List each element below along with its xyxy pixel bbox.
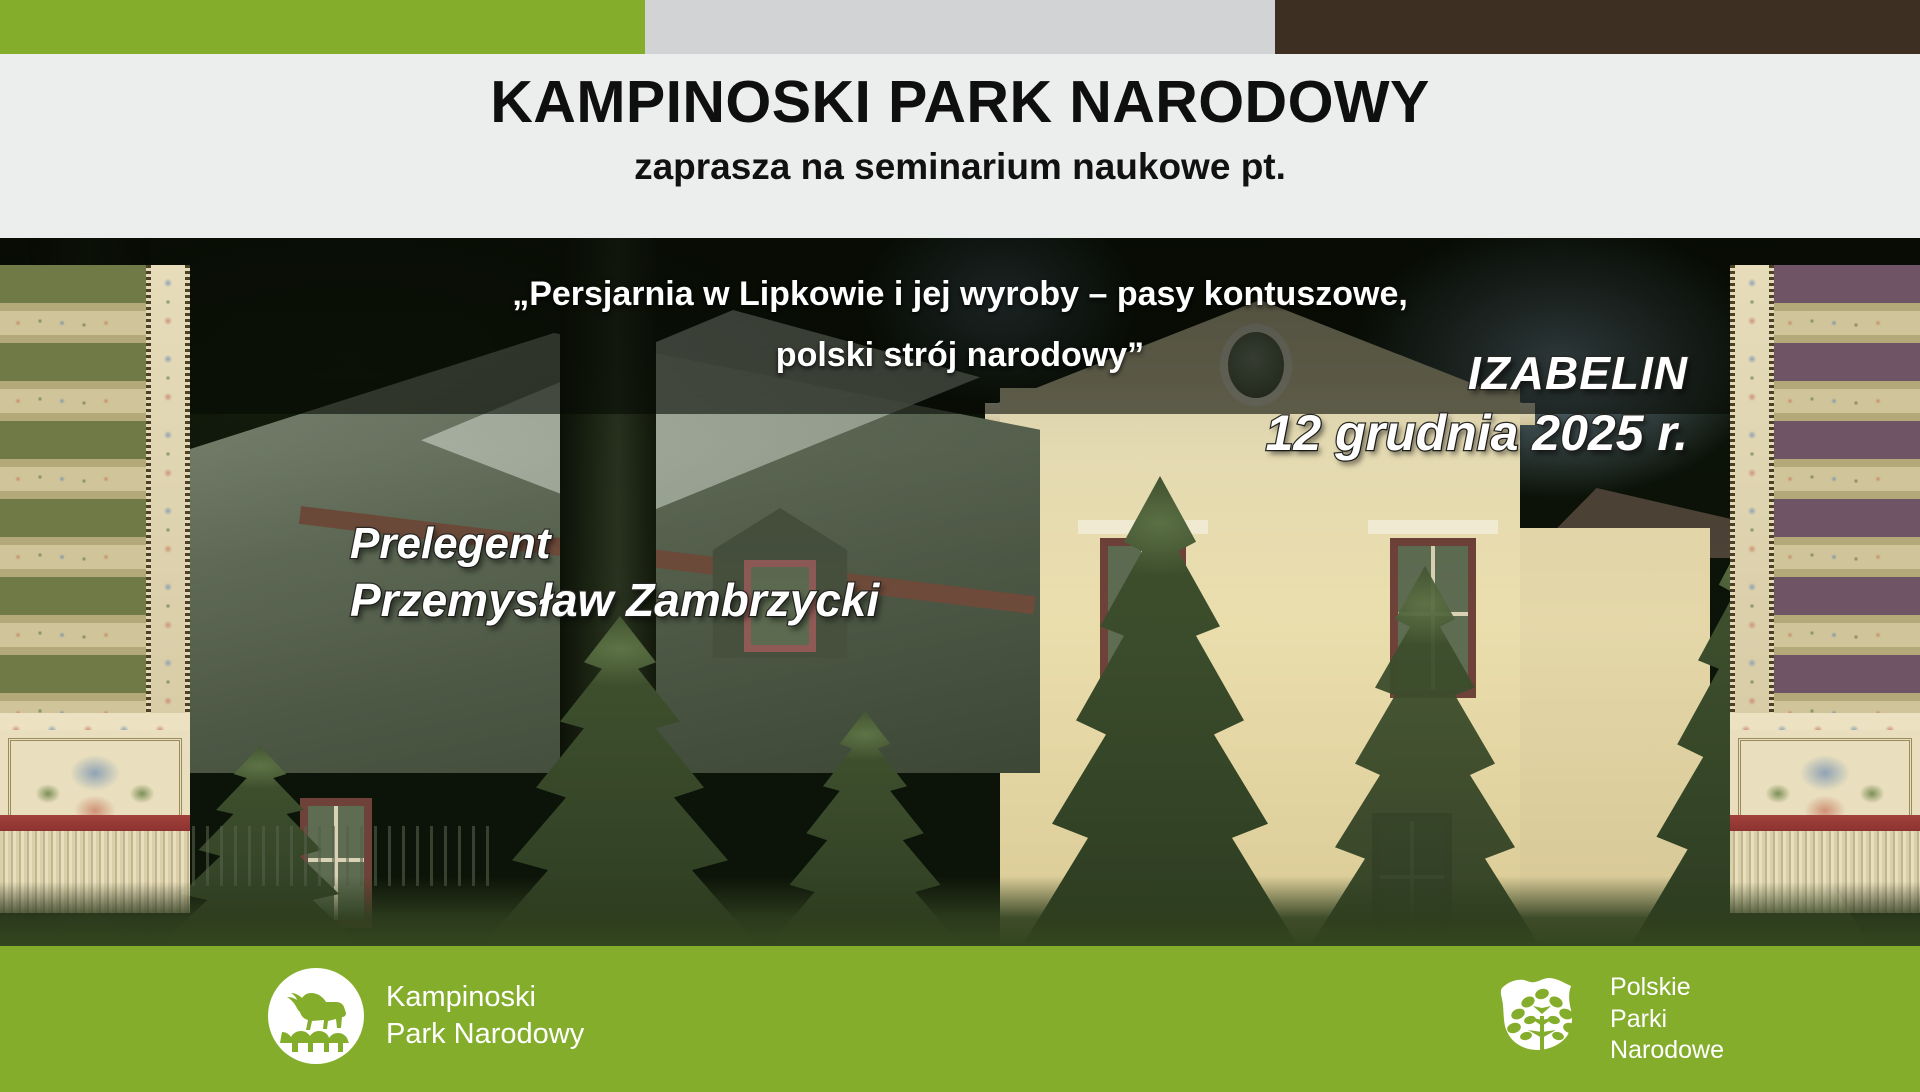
sash-right-fringe xyxy=(1730,831,1920,913)
elk-in-circle-icon xyxy=(268,968,364,1064)
event-date: 12 grudnia 2025 r. xyxy=(1266,404,1688,463)
sash-right-red-band xyxy=(1730,815,1920,831)
logo-ppn-line-2: Parki xyxy=(1610,1004,1724,1036)
poster-canvas: KAMPINOSKI PARK NARODOWY zaprasza na sem… xyxy=(0,0,1920,1092)
top-color-bar xyxy=(0,0,1920,54)
logo-kpn-line-1: Kampinoski xyxy=(386,979,584,1016)
sash-left-red-band xyxy=(0,815,190,831)
logo-kpn-wordmark: Kampinoski Park Narodowy xyxy=(386,979,584,1053)
poland-outline-with-tree-icon xyxy=(1492,964,1592,1075)
event-place-and-date: IZABELIN 12 grudnia 2025 r. xyxy=(1266,346,1688,463)
logo-ppn-line-1: Polskie xyxy=(1610,972,1724,1004)
event-city: IZABELIN xyxy=(1266,346,1688,400)
photo-stage: „Persjarnia w Lipkowie i jej wyroby – pa… xyxy=(0,238,1920,946)
top-bar-segment-grey xyxy=(645,0,1275,54)
speaker-role-label: Prelegent xyxy=(350,518,879,571)
logo-kampinoski-park-narodowy: Kampinoski Park Narodowy xyxy=(268,968,584,1064)
logo-polskie-parki-narodowe: Polskie Parki Narodowe xyxy=(1492,964,1724,1075)
footer-band: Kampinoski Park Narodowy xyxy=(0,946,1920,1092)
top-bar-segment-brown xyxy=(1275,0,1920,54)
sash-left-fringe xyxy=(0,831,190,913)
logo-kpn-line-2: Park Narodowy xyxy=(386,1016,584,1053)
speaker-name: Przemysław Zambrzycki xyxy=(350,573,879,628)
page-title: KAMPINOSKI PARK NARODOWY xyxy=(0,54,1920,138)
logo-ppn-wordmark: Polskie Parki Narodowe xyxy=(1610,972,1724,1067)
speaker-info: Prelegent Przemysław Zambrzycki xyxy=(350,518,879,628)
header-subtitle: zaprasza na seminarium naukowe pt. xyxy=(0,138,1920,189)
logo-ppn-line-3: Narodowe xyxy=(1610,1035,1724,1067)
header-band: KAMPINOSKI PARK NARODOWY zaprasza na sem… xyxy=(0,54,1920,238)
seminar-title-line-1: „Persjarnia w Lipkowie i jej wyroby – pa… xyxy=(0,264,1920,325)
top-bar-segment-green xyxy=(0,0,645,54)
